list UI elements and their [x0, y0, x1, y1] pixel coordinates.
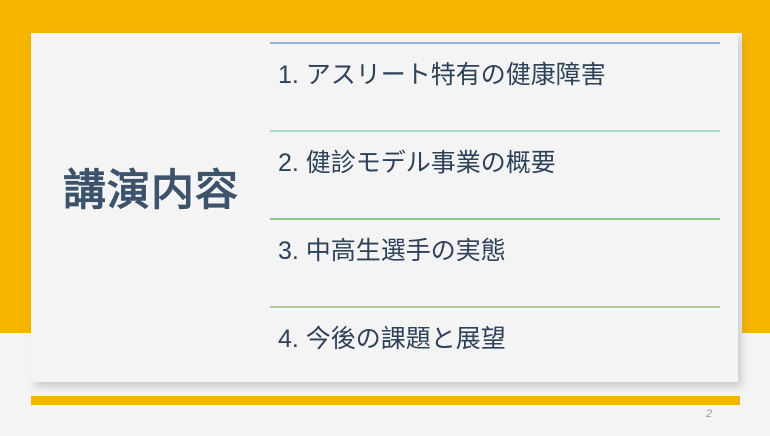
agenda-divider-1	[270, 42, 720, 44]
agenda-item-label-4: 4. 今後の課題と展望	[278, 319, 506, 355]
accent-bar-bottom	[31, 396, 740, 405]
presentation-slide: 講演内容 1. アスリート特有の健康障害 2. 健診モデル事業の概要 3. 中高…	[0, 0, 770, 436]
list-item: 3. 中高生選手の実態	[270, 218, 722, 306]
agenda-divider-3	[270, 218, 720, 220]
list-item: 2. 健診モデル事業の概要	[270, 130, 722, 218]
list-item: 4. 今後の課題と展望	[270, 306, 722, 394]
agenda-divider-4	[270, 306, 720, 308]
accent-bar-top	[0, 0, 770, 33]
page-number: 2	[706, 408, 712, 420]
agenda-item-label-1: 1. アスリート特有の健康障害	[278, 55, 606, 91]
agenda-item-label-2: 2. 健診モデル事業の概要	[278, 143, 556, 179]
accent-bar-left	[0, 0, 31, 333]
agenda-list: 1. アスリート特有の健康障害 2. 健診モデル事業の概要 3. 中高生選手の実…	[270, 42, 722, 394]
agenda-item-label-3: 3. 中高生選手の実態	[278, 231, 506, 267]
slide-title: 講演内容	[31, 168, 271, 215]
agenda-divider-2	[270, 130, 720, 132]
list-item: 1. アスリート特有の健康障害	[270, 42, 722, 130]
accent-bar-right	[742, 0, 770, 333]
